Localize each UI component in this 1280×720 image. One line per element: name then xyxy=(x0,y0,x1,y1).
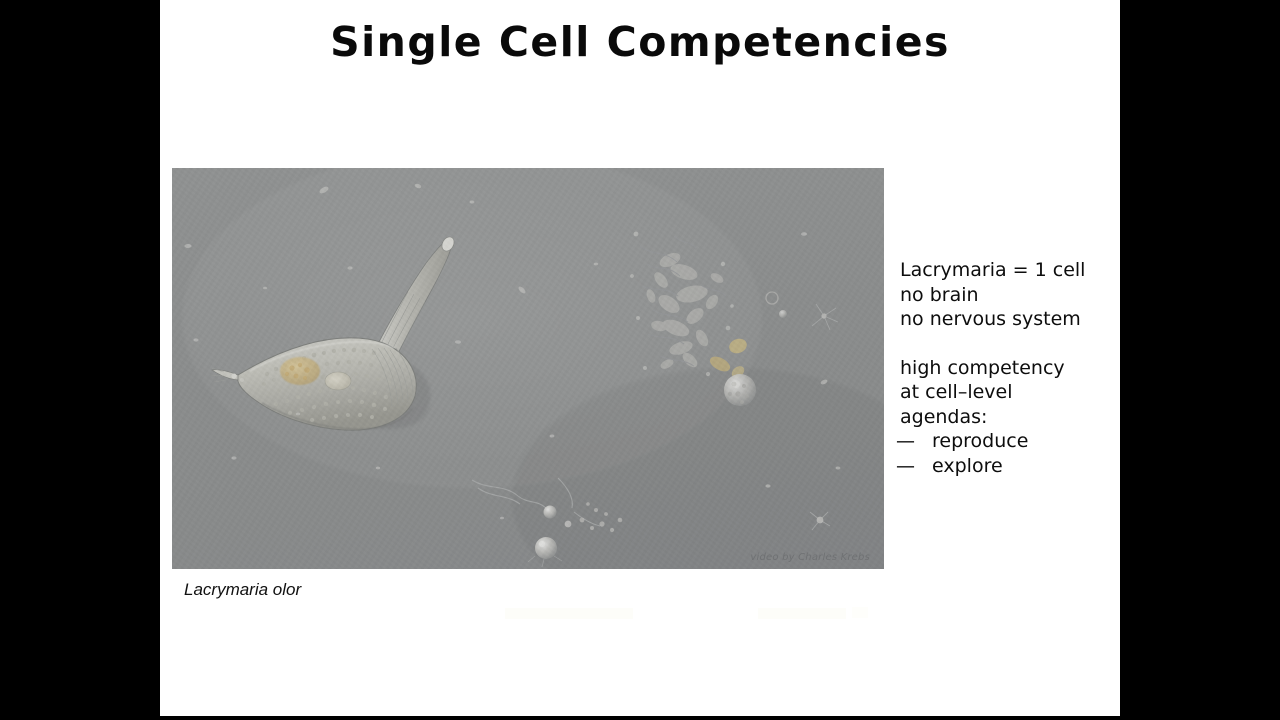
note-bullet-2-label: explore xyxy=(932,455,1003,477)
note-line-5: at cell–level xyxy=(900,380,1115,405)
stellate-particle xyxy=(812,304,838,330)
dash-bullet-icon: — xyxy=(914,429,930,454)
dash-bullet-icon: — xyxy=(914,454,930,479)
page-title: Single Cell Competencies xyxy=(160,14,1120,70)
note-line-4: high competency xyxy=(900,356,1115,381)
compression-artifact xyxy=(852,607,868,618)
photo-caption: Lacrymaria olor xyxy=(184,580,301,600)
presentation-slide: Single Cell Competencies xyxy=(160,0,1120,717)
letterbox-bar-left xyxy=(0,0,160,720)
note-paragraph-gap xyxy=(900,332,1115,356)
note-bullet-1: —reproduce xyxy=(900,429,1115,454)
video-credit-watermark: video by Charles Krebs xyxy=(750,552,870,563)
note-line-2: no brain xyxy=(900,283,1115,308)
letterbox-bar-bottom xyxy=(0,716,1280,720)
annotation-text-block: Lacrymaria = 1 cell no brain no nervous … xyxy=(900,258,1115,478)
compression-artifact xyxy=(758,608,846,619)
letterbox-bar-right xyxy=(1120,0,1280,720)
note-line-1: Lacrymaria = 1 cell xyxy=(900,258,1115,283)
lacrymaria-olor-micrograph: video by Charles Krebs xyxy=(172,168,884,569)
micrograph-contents xyxy=(172,168,884,569)
note-line-3: no nervous system xyxy=(900,307,1115,332)
note-bullet-1-label: reproduce xyxy=(932,430,1028,452)
compression-artifact xyxy=(505,608,633,619)
video-frame: Single Cell Competencies xyxy=(0,0,1280,720)
note-line-6: agendas: xyxy=(900,405,1115,430)
note-bullet-2: —explore xyxy=(900,454,1115,479)
